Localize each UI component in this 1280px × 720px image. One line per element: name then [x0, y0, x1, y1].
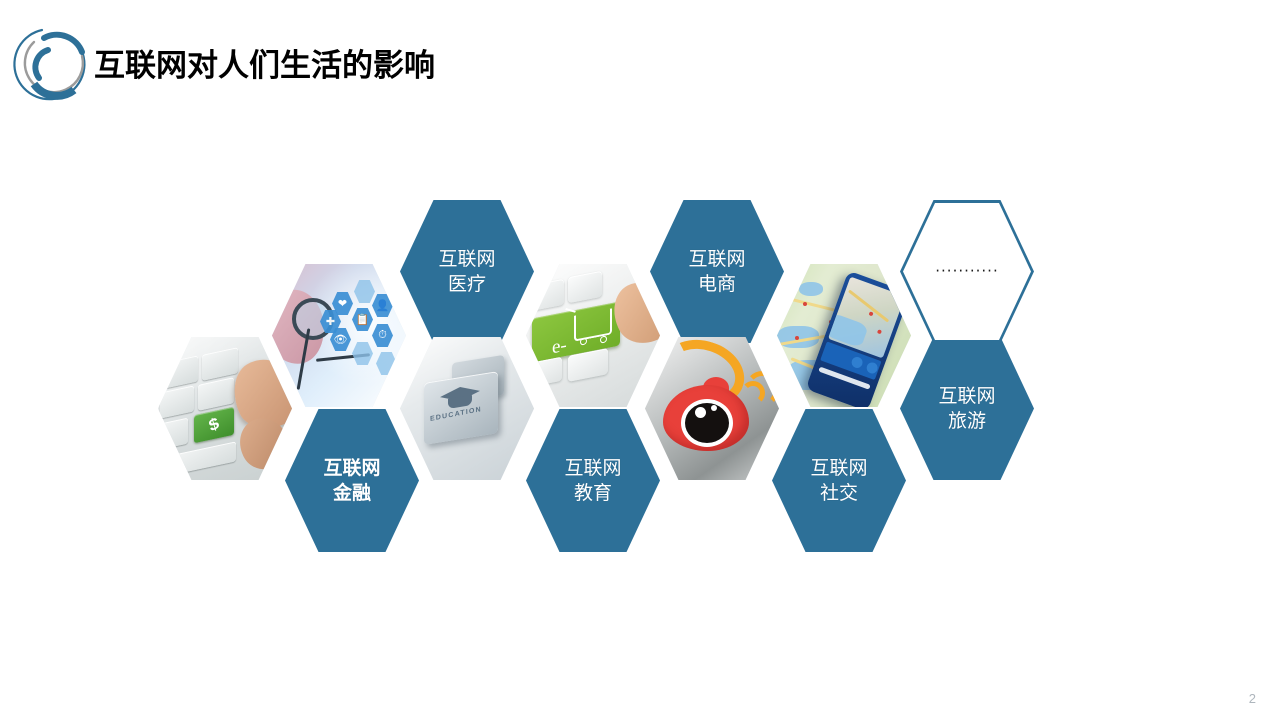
- green-shopping-cart-key-photo: e-: [526, 264, 660, 407]
- map-smartphone-navigation-photo: [777, 264, 911, 407]
- hex-social-photo[interactable]: [645, 337, 779, 480]
- hex-label-education-text: 互联网 教育: [564, 456, 621, 506]
- hex-travel-photo[interactable]: [777, 264, 911, 407]
- hex-label-medical-text: 互联网 医疗: [438, 247, 495, 297]
- hex-education-photo[interactable]: EDUCATION: [400, 337, 534, 480]
- hex-label-ecommerce-text: 互联网 电商: [688, 247, 745, 297]
- hexagon-cluster: ❤ 👤 ✚ 📋 👁 ⏱ 互联网 医疗 互联网 金融 EDUCATION: [0, 0, 1280, 720]
- hex-label-social[interactable]: 互联网 社交: [772, 409, 906, 552]
- ecommerce-key-text: e-: [552, 335, 567, 360]
- hex-label-medical[interactable]: 互联网 医疗: [400, 200, 534, 343]
- hex-label-finance-text: 互联网 金融: [323, 456, 380, 506]
- keyboard-dollar-key-photo: [158, 337, 292, 480]
- hex-label-social-text: 互联网 社交: [810, 456, 867, 506]
- hex-label-ecommerce[interactable]: 互联网 电商: [650, 200, 784, 343]
- hex-ecommerce-photo[interactable]: e-: [526, 264, 660, 407]
- hex-label-education[interactable]: 互联网 教育: [526, 409, 660, 552]
- hex-label-travel-text: 互联网 旅游: [938, 384, 995, 434]
- hex-label-finance[interactable]: 互联网 金融: [285, 409, 419, 552]
- hex-medical-photo[interactable]: ❤ 👤 ✚ 📋 👁 ⏱: [272, 264, 406, 407]
- ellipsis-dots: ···········: [935, 264, 998, 279]
- stethoscope-health-icons-photo: ❤ 👤 ✚ 📋 👁 ⏱: [272, 264, 406, 407]
- hex-label-travel[interactable]: 互联网 旅游: [900, 337, 1034, 480]
- education-keyboard-key-photo: EDUCATION: [400, 337, 534, 480]
- hex-finance-photo[interactable]: [158, 337, 292, 480]
- page-number: 2: [1249, 691, 1256, 706]
- hex-more-outline[interactable]: ···········: [900, 200, 1034, 343]
- weibo-eye-logo-photo: [645, 337, 779, 480]
